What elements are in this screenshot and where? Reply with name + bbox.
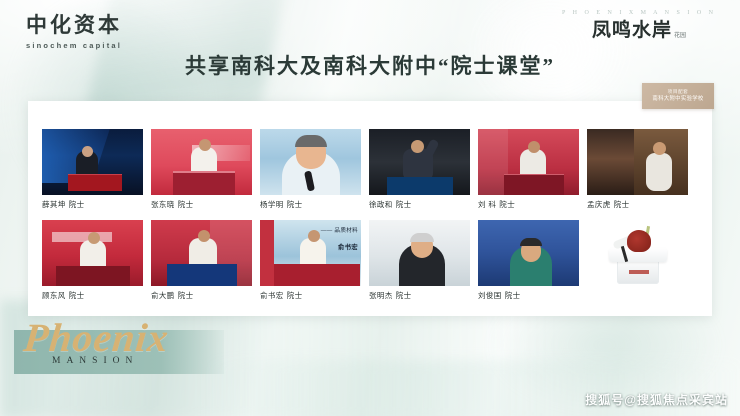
- list-item[interactable]: [587, 220, 688, 301]
- list-item-caption: 薛其坤院士: [42, 199, 143, 210]
- list-item-caption: 俞书宏院士: [260, 290, 361, 301]
- academician-title: 院士: [178, 291, 194, 300]
- photo-overlay-name: 俞书宏: [338, 242, 358, 251]
- status-badge-line1: 项目配套: [668, 89, 688, 96]
- academician-photo[interactable]: [369, 129, 470, 195]
- list-item-caption: 杨学明院士: [260, 199, 361, 210]
- academician-photo[interactable]: [587, 129, 688, 195]
- list-item-caption: 俞大鹏院士: [151, 290, 252, 301]
- estate-logo-row: 凤鸣水岸 花园: [562, 21, 716, 40]
- estate-logo-suffix: 花园: [674, 33, 686, 40]
- content-card: 薛其坤院士 张东晓院士 杨学明院士: [28, 101, 712, 316]
- list-item-caption: 张东晓院士: [151, 199, 252, 210]
- estate-logo-latin: P H O E N I X M A N S I O N: [562, 10, 716, 16]
- list-item[interactable]: 孟庆虎院士: [587, 129, 688, 210]
- academician-name: 张明杰: [369, 291, 393, 300]
- phoenix-wordmark: Phoenix MANSION: [24, 318, 214, 380]
- academician-title: 院士: [287, 291, 303, 300]
- photo-grid-row: 薛其坤院士 张东晓院士 杨学明院士: [42, 129, 698, 210]
- list-item[interactable]: 刘 科院士: [478, 129, 579, 210]
- academician-title: 院士: [505, 291, 521, 300]
- academician-title: 院士: [287, 200, 303, 209]
- list-item-caption: 张明杰院士: [369, 290, 470, 301]
- phoenix-script-text: Phoenix: [22, 318, 216, 358]
- slide-canvas: 中化资本 sinochem capital P H O E N I X M A …: [0, 0, 740, 416]
- brand-logo-cn: 中化资本: [26, 14, 122, 37]
- brand-logo: 中化资本 sinochem capital: [26, 14, 122, 50]
- status-badge-line2: 南科大附中实验学校: [652, 95, 703, 103]
- estate-logo-cn: 凤鸣水岸: [592, 21, 672, 40]
- academician-photo[interactable]: [478, 129, 579, 195]
- academician-photo[interactable]: —— 品质材料 俞书宏: [260, 220, 361, 286]
- page-title: 共享南科大及南科大附中“院士课堂”: [0, 50, 740, 80]
- list-item-caption: 孟庆虎院士: [587, 199, 688, 210]
- list-item-caption: 顾东风院士: [42, 290, 143, 301]
- list-item-caption: 刘俊国院士: [478, 290, 579, 301]
- estate-logo: P H O E N I X M A N S I O N 凤鸣水岸 花园: [562, 10, 716, 40]
- academician-photo[interactable]: [42, 220, 143, 286]
- academician-name: 张东晓: [151, 200, 175, 209]
- photo-grid-row: 顾东风院士 俞大鹏院士 —— 品质材料 俞书宏: [42, 220, 698, 301]
- list-item[interactable]: 顾东风院士: [42, 220, 143, 301]
- academician-name: 薛其坤: [42, 200, 66, 209]
- photo-overlay-subtitle: —— 品质材料: [321, 226, 358, 234]
- academician-title: 院士: [178, 200, 194, 209]
- list-item-caption: 刘 科院士: [478, 199, 579, 210]
- academician-title: 院士: [614, 200, 630, 209]
- academician-photo[interactable]: [151, 129, 252, 195]
- status-badge: 项目配套 南科大附中实验学校: [642, 83, 714, 109]
- academician-name: 刘俊国: [478, 291, 502, 300]
- academician-title: 院士: [396, 200, 412, 209]
- list-item[interactable]: 徐政和院士: [369, 129, 470, 210]
- brand-logo-en: sinochem capital: [26, 41, 122, 50]
- academician-photo[interactable]: [369, 220, 470, 286]
- academician-photo[interactable]: [151, 220, 252, 286]
- list-item[interactable]: 张东晓院士: [151, 129, 252, 210]
- list-item[interactable]: —— 品质材料 俞书宏 俞书宏院士: [260, 220, 361, 301]
- academician-name: 杨学明: [260, 200, 284, 209]
- academician-name: 徐政和: [369, 200, 393, 209]
- photo-grid: 薛其坤院士 张东晓院士 杨学明院士: [42, 129, 698, 301]
- academician-title: 院士: [396, 291, 412, 300]
- watermark: 搜狐号@搜狐焦点采宾站: [585, 391, 728, 408]
- academician-photo[interactable]: [478, 220, 579, 286]
- list-item[interactable]: 杨学明院士: [260, 129, 361, 210]
- academician-name: 孟庆虎: [587, 200, 611, 209]
- list-item[interactable]: 薛其坤院士: [42, 129, 143, 210]
- list-item[interactable]: 张明杰院士: [369, 220, 470, 301]
- list-item[interactable]: 刘俊国院士: [478, 220, 579, 301]
- list-item-caption: 徐政和院士: [369, 199, 470, 210]
- academician-title: 院士: [69, 200, 85, 209]
- list-item[interactable]: 俞大鹏院士: [151, 220, 252, 301]
- academician-name: 俞书宏: [260, 291, 284, 300]
- academician-title: 院士: [69, 291, 85, 300]
- podium-photo[interactable]: [587, 220, 688, 286]
- academician-photo[interactable]: [42, 129, 143, 195]
- academician-name: 俞大鹏: [151, 291, 175, 300]
- academician-photo[interactable]: [260, 129, 361, 195]
- academician-name: 刘 科: [478, 200, 496, 209]
- academician-name: 顾东风: [42, 291, 66, 300]
- academician-title: 院士: [499, 200, 515, 209]
